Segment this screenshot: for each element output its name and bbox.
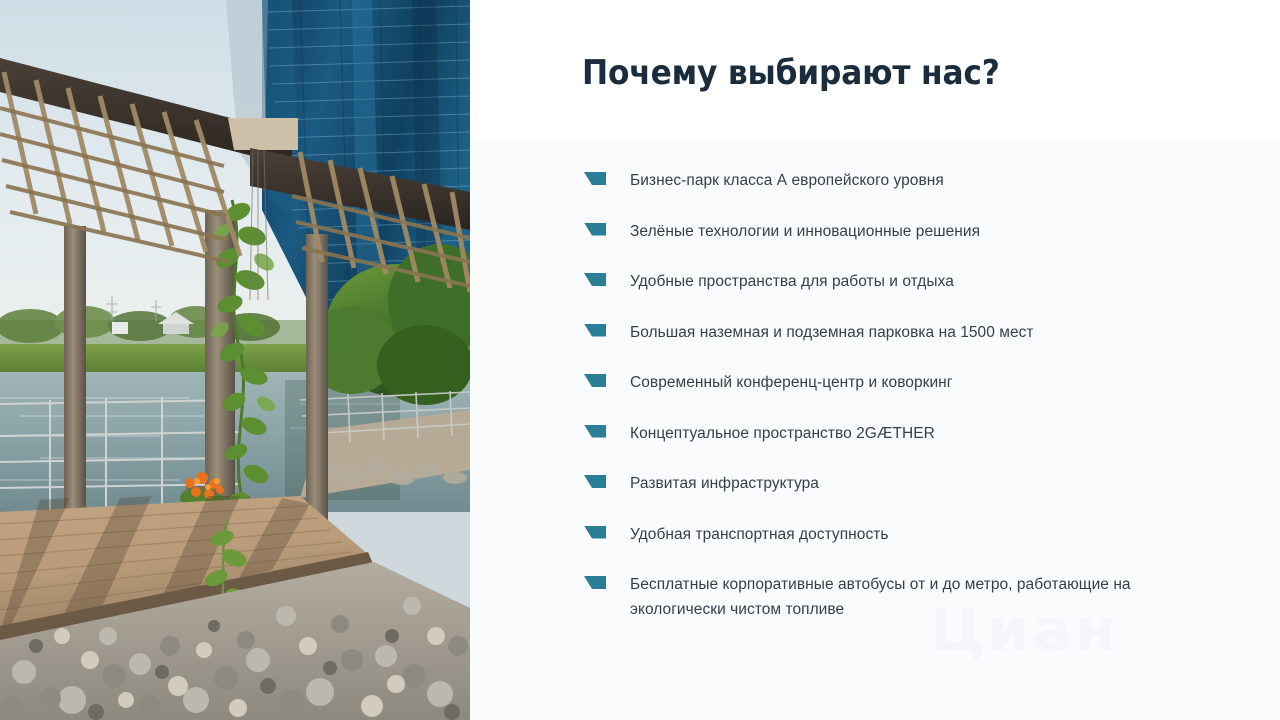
bullet-marker-icon: [582, 425, 606, 438]
list-item-label: Большая наземная и подземная парковка на…: [630, 320, 1220, 345]
slide: Циан Почему выбирают нас? Бизнес-парк кл…: [0, 0, 1280, 720]
list-item-label: Бесплатные корпоративные автобусы от и д…: [630, 572, 1220, 622]
list-item-label: Бизнес-парк класса А европейского уровня: [630, 168, 1220, 193]
hero-photo-illustration: [0, 0, 470, 720]
list-item: Бизнес-парк класса А европейского уровня: [582, 168, 1220, 193]
content-panel: Циан Почему выбирают нас? Бизнес-парк кл…: [470, 0, 1280, 720]
bullet-marker-icon: [582, 374, 606, 387]
list-item-label: Удобная транспортная доступность: [630, 522, 1220, 547]
bullet-marker-icon: [582, 526, 606, 539]
bullet-marker-icon: [582, 324, 606, 337]
list-item: Зелёные технологии и инновационные решен…: [582, 219, 1220, 244]
list-item: Концептуальное пространство 2GÆTHER: [582, 421, 1220, 446]
bullet-marker-icon: [582, 576, 606, 589]
pergola-post-left: [64, 226, 86, 526]
bullet-marker-icon: [582, 475, 606, 488]
page-title: Почему выбирают нас?: [582, 52, 1000, 94]
list-item-label: Зелёные технологии и инновационные решен…: [630, 219, 1220, 244]
pergola-post-right: [306, 234, 328, 524]
list-item: Современный конференц-центр и коворкинг: [582, 370, 1220, 395]
list-item: Удобная транспортная доступность: [582, 522, 1220, 547]
list-item-label: Современный конференц-центр и коворкинг: [630, 370, 1220, 395]
list-item: Бесплатные корпоративные автобусы от и д…: [582, 572, 1220, 622]
benefits-list: Бизнес-парк класса А европейского уровня…: [582, 168, 1220, 622]
list-item-label: Развитая инфраструктура: [630, 471, 1220, 496]
bullet-marker-icon: [582, 223, 606, 236]
list-item-label: Концептуальное пространство 2GÆTHER: [630, 421, 1220, 446]
list-item-label: Удобные пространства для работы и отдыха: [630, 269, 1220, 294]
list-item: Большая наземная и подземная парковка на…: [582, 320, 1220, 345]
list-item: Развитая инфраструктура: [582, 471, 1220, 496]
hero-photo: [0, 0, 470, 720]
bullet-marker-icon: [582, 273, 606, 286]
list-item: Удобные пространства для работы и отдыха: [582, 269, 1220, 294]
content-inner: Почему выбирают нас? Бизнес-парк класса …: [470, 0, 1280, 720]
bullet-marker-icon: [582, 172, 606, 185]
